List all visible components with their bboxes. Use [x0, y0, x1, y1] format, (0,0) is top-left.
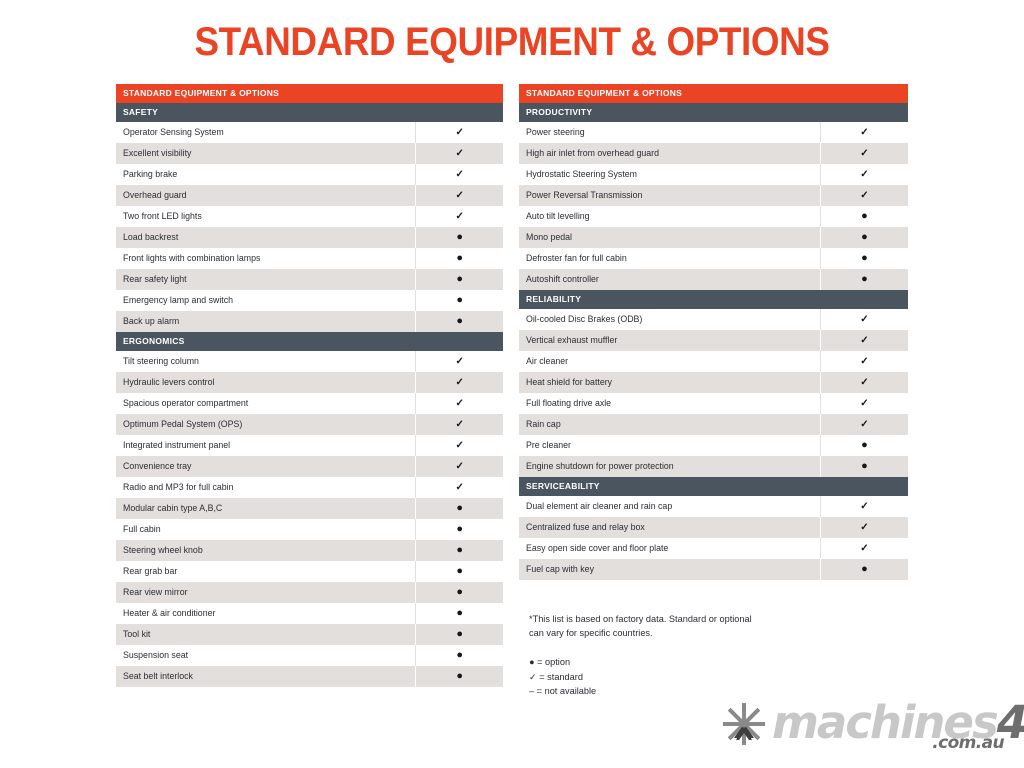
option-dot-icon: ●	[416, 311, 503, 332]
legend-item: ✓ = standard	[529, 670, 769, 685]
standard-check-icon: ✓	[416, 206, 503, 227]
table-row: Rear grab bar●	[116, 561, 503, 582]
table-row: Tilt steering column✓	[116, 351, 503, 372]
standard-check-icon: ✓	[416, 393, 503, 414]
feature-label: Full floating drive axle	[519, 393, 820, 414]
table-row: Radio and MP3 for full cabin✓	[116, 477, 503, 498]
option-dot-icon: ●	[416, 561, 503, 582]
table-row: Power Reversal Transmission✓	[519, 185, 908, 206]
table-row: Tool kit●	[116, 624, 503, 645]
table-row: Two front LED lights✓	[116, 206, 503, 227]
standard-check-icon: ✓	[416, 477, 503, 498]
option-dot-icon: ●	[820, 435, 908, 456]
section-header-label: RELIABILITY	[519, 290, 908, 309]
section-header-label: ERGONOMICS	[116, 332, 503, 351]
standard-check-icon: ✓	[416, 414, 503, 435]
legend: ● = option✓ = standard– = not available	[529, 655, 769, 699]
feature-label: Autoshift controller	[519, 269, 820, 290]
standard-check-icon: ✓	[416, 185, 503, 206]
section-header-label: SERVICEABILITY	[519, 477, 908, 496]
option-dot-icon: ●	[416, 290, 503, 311]
feature-label: Heat shield for battery	[519, 372, 820, 393]
feature-label: Rear grab bar	[116, 561, 416, 582]
option-dot-icon: ●	[416, 624, 503, 645]
feature-label: Parking brake	[116, 164, 416, 185]
feature-label: Power Reversal Transmission	[519, 185, 820, 206]
table-row: Dual element air cleaner and rain cap✓	[519, 496, 908, 517]
standard-check-icon: ✓	[820, 122, 908, 143]
standard-check-icon: ✓	[820, 538, 908, 559]
section-header-ergonomics: ERGONOMICS	[116, 332, 503, 351]
feature-label: Tool kit	[116, 624, 416, 645]
feature-label: Vertical exhaust muffler	[519, 330, 820, 351]
table-row: Load backrest●	[116, 227, 503, 248]
table-row: Oil-cooled Disc Brakes (ODB)✓	[519, 309, 908, 330]
feature-label: Modular cabin type A,B,C	[116, 498, 416, 519]
feature-label: Oil-cooled Disc Brakes (ODB)	[519, 309, 820, 330]
feature-label: Emergency lamp and switch	[116, 290, 416, 311]
table-row: Back up alarm●	[116, 311, 503, 332]
table-row: Heater & air conditioner●	[116, 603, 503, 624]
feature-label: Fuel cap with key	[519, 559, 820, 580]
feature-label: Rear view mirror	[116, 582, 416, 603]
footnote: *This list is based on factory data. Sta…	[529, 612, 859, 640]
feature-label: Easy open side cover and floor plate	[519, 538, 820, 559]
standard-check-icon: ✓	[820, 393, 908, 414]
table-row: Centralized fuse and relay box✓	[519, 517, 908, 538]
option-dot-icon: ●	[416, 227, 503, 248]
table-row: Rear view mirror●	[116, 582, 503, 603]
table-row: Emergency lamp and switch●	[116, 290, 503, 311]
table-row: Convenience tray✓	[116, 456, 503, 477]
table-row: Full floating drive axle✓	[519, 393, 908, 414]
table-row: Rear safety light●	[116, 269, 503, 290]
table-row: Defroster fan for full cabin●	[519, 248, 908, 269]
feature-label: Auto tilt levelling	[519, 206, 820, 227]
feature-label: Air cleaner	[519, 351, 820, 372]
table-row: Operator Sensing System✓	[116, 122, 503, 143]
spec-table-right-body: STANDARD EQUIPMENT & OPTIONSPRODUCTIVITY…	[519, 84, 908, 580]
feature-label: Rain cap	[519, 414, 820, 435]
table-row: Engine shutdown for power protection●	[519, 456, 908, 477]
standard-check-icon: ✓	[416, 164, 503, 185]
table-row: Modular cabin type A,B,C●	[116, 498, 503, 519]
standard-check-icon: ✓	[820, 414, 908, 435]
feature-label: Rear safety light	[116, 269, 416, 290]
table-row: Spacious operator compartment✓	[116, 393, 503, 414]
option-dot-icon: ●	[820, 248, 908, 269]
standard-check-icon: ✓	[416, 143, 503, 164]
option-dot-icon: ●	[416, 540, 503, 561]
table-row: Power steering✓	[519, 122, 908, 143]
feature-label: Load backrest	[116, 227, 416, 248]
feature-label: Spacious operator compartment	[116, 393, 416, 414]
page-title: STANDARD EQUIPMENT & OPTIONS	[41, 20, 983, 64]
standard-check-icon: ✓	[416, 372, 503, 393]
feature-label: Convenience tray	[116, 456, 416, 477]
option-dot-icon: ●	[416, 666, 503, 687]
section-header-label: PRODUCTIVITY	[519, 103, 908, 122]
table-row: Autoshift controller●	[519, 269, 908, 290]
footnote-line-2: can vary for specific countries.	[529, 626, 859, 640]
feature-label: Radio and MP3 for full cabin	[116, 477, 416, 498]
option-dot-icon: ●	[416, 603, 503, 624]
table-row: Pre cleaner●	[519, 435, 908, 456]
table-row: Rain cap✓	[519, 414, 908, 435]
table-row: Hydraulic levers control✓	[116, 372, 503, 393]
feature-label: Excellent visibility	[116, 143, 416, 164]
section-header-serviceability: SERVICEABILITY	[519, 477, 908, 496]
option-dot-icon: ●	[820, 269, 908, 290]
section-header-safety: SAFETY	[116, 103, 503, 122]
standard-check-icon: ✓	[416, 456, 503, 477]
table-row: High air inlet from overhead guard✓	[519, 143, 908, 164]
standard-check-icon: ✓	[820, 351, 908, 372]
table-row: Front lights with combination lamps●	[116, 248, 503, 269]
table-row: Air cleaner✓	[519, 351, 908, 372]
logo-text-tld: .com.au	[932, 734, 1004, 752]
standard-check-icon: ✓	[820, 496, 908, 517]
feature-label: Engine shutdown for power protection	[519, 456, 820, 477]
feature-label: Overhead guard	[116, 185, 416, 206]
spec-table-right: STANDARD EQUIPMENT & OPTIONSPRODUCTIVITY…	[519, 84, 908, 580]
feature-label: High air inlet from overhead guard	[519, 143, 820, 164]
table-row: Steering wheel knob●	[116, 540, 503, 561]
feature-label: Mono pedal	[519, 227, 820, 248]
table-header-label: STANDARD EQUIPMENT & OPTIONS	[116, 84, 503, 103]
standard-check-icon: ✓	[820, 372, 908, 393]
feature-label: Back up alarm	[116, 311, 416, 332]
feature-label: Steering wheel knob	[116, 540, 416, 561]
option-dot-icon: ●	[416, 498, 503, 519]
table-row: Suspension seat●	[116, 645, 503, 666]
table-row: Seat belt interlock●	[116, 666, 503, 687]
table-row: Integrated instrument panel✓	[116, 435, 503, 456]
section-header-productivity: PRODUCTIVITY	[519, 103, 908, 122]
standard-check-icon: ✓	[416, 122, 503, 143]
table-row: Easy open side cover and floor plate✓	[519, 538, 908, 559]
feature-label: Defroster fan for full cabin	[519, 248, 820, 269]
table-header-bar: STANDARD EQUIPMENT & OPTIONS	[116, 84, 503, 103]
machines4u-logo: machines4u .com.au	[722, 698, 1004, 756]
legend-item: – = not available	[529, 684, 769, 699]
feature-label: Operator Sensing System	[116, 122, 416, 143]
section-header-reliability: RELIABILITY	[519, 290, 908, 309]
feature-label: Dual element air cleaner and rain cap	[519, 496, 820, 517]
section-header-label: SAFETY	[116, 103, 503, 122]
table-row: Auto tilt levelling●	[519, 206, 908, 227]
option-dot-icon: ●	[416, 269, 503, 290]
footnote-line-1: *This list is based on factory data. Sta…	[529, 612, 859, 626]
feature-label: Centralized fuse and relay box	[519, 517, 820, 538]
feature-label: Full cabin	[116, 519, 416, 540]
feature-label: Power steering	[519, 122, 820, 143]
feature-label: Integrated instrument panel	[116, 435, 416, 456]
standard-check-icon: ✓	[416, 435, 503, 456]
table-row: Mono pedal●	[519, 227, 908, 248]
feature-label: Tilt steering column	[116, 351, 416, 372]
option-dot-icon: ●	[416, 645, 503, 666]
feature-label: Suspension seat	[116, 645, 416, 666]
feature-label: Pre cleaner	[519, 435, 820, 456]
standard-check-icon: ✓	[416, 351, 503, 372]
table-row: Full cabin●	[116, 519, 503, 540]
feature-label: Two front LED lights	[116, 206, 416, 227]
feature-label: Optimum Pedal System (OPS)	[116, 414, 416, 435]
table-header-label: STANDARD EQUIPMENT & OPTIONS	[519, 84, 908, 103]
option-dot-icon: ●	[416, 582, 503, 603]
option-dot-icon: ●	[820, 227, 908, 248]
option-dot-icon: ●	[820, 206, 908, 227]
table-row: Vertical exhaust muffler✓	[519, 330, 908, 351]
option-dot-icon: ●	[820, 456, 908, 477]
option-dot-icon: ●	[820, 559, 908, 580]
standard-check-icon: ✓	[820, 185, 908, 206]
option-dot-icon: ●	[416, 519, 503, 540]
table-row: Fuel cap with key●	[519, 559, 908, 580]
standard-check-icon: ✓	[820, 309, 908, 330]
starburst-icon	[722, 702, 766, 746]
standard-check-icon: ✓	[820, 164, 908, 185]
table-row: Optimum Pedal System (OPS)✓	[116, 414, 503, 435]
feature-label: Hydraulic levers control	[116, 372, 416, 393]
table-row: Hydrostatic Steering System✓	[519, 164, 908, 185]
spec-table-left-body: STANDARD EQUIPMENT & OPTIONSSAFETYOperat…	[116, 84, 503, 687]
option-dot-icon: ●	[416, 248, 503, 269]
spec-column-left: STANDARD EQUIPMENT & OPTIONSSAFETYOperat…	[116, 84, 503, 687]
standard-check-icon: ✓	[820, 517, 908, 538]
legend-item: ● = option	[529, 655, 769, 670]
feature-label: Front lights with combination lamps	[116, 248, 416, 269]
standard-check-icon: ✓	[820, 330, 908, 351]
spec-column-right: STANDARD EQUIPMENT & OPTIONSPRODUCTIVITY…	[519, 84, 908, 580]
table-header-bar: STANDARD EQUIPMENT & OPTIONS	[519, 84, 908, 103]
feature-label: Hydrostatic Steering System	[519, 164, 820, 185]
table-row: Excellent visibility✓	[116, 143, 503, 164]
feature-label: Seat belt interlock	[116, 666, 416, 687]
feature-label: Heater & air conditioner	[116, 603, 416, 624]
table-row: Heat shield for battery✓	[519, 372, 908, 393]
spec-table-left: STANDARD EQUIPMENT & OPTIONSSAFETYOperat…	[116, 84, 503, 687]
standard-check-icon: ✓	[820, 143, 908, 164]
table-row: Parking brake✓	[116, 164, 503, 185]
table-row: Overhead guard✓	[116, 185, 503, 206]
